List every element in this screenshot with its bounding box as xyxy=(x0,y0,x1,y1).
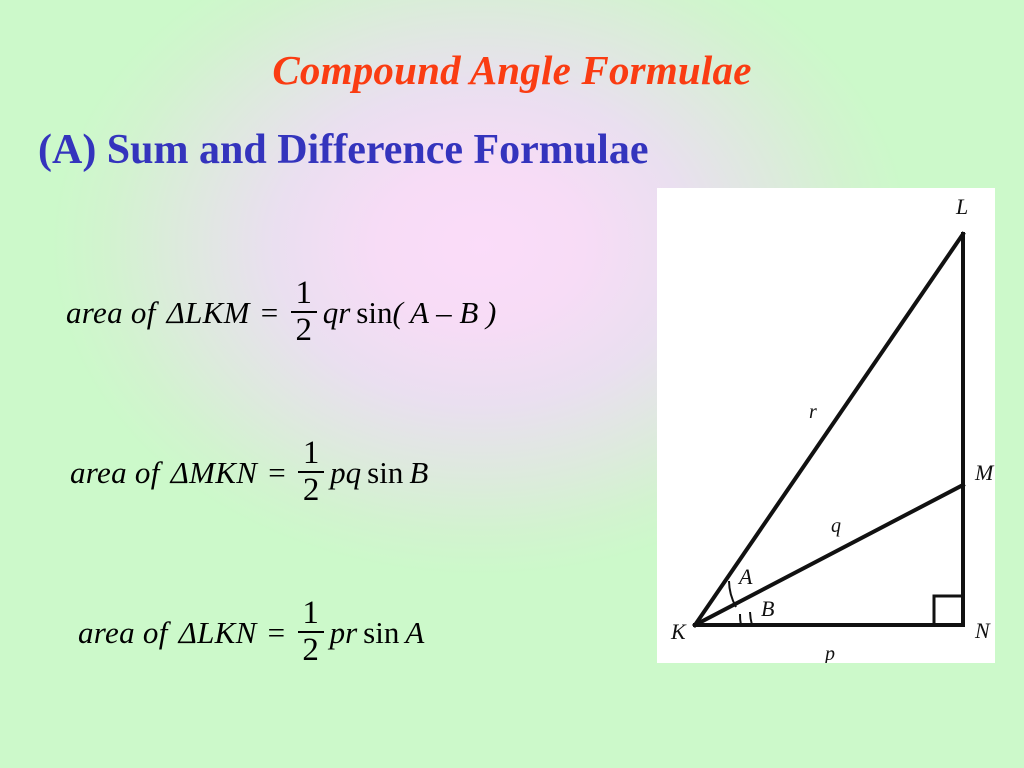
formula-2-argument: B xyxy=(409,455,428,491)
formula-2-numerator: 1 xyxy=(299,437,324,471)
segment-kl xyxy=(695,234,963,625)
formula-3-equals: = xyxy=(266,615,287,651)
formula-1-function: sin xyxy=(356,295,392,331)
side-label-q: q xyxy=(831,515,841,537)
formula-row-3: area of ΔLKN = 1 2 pr sin A xyxy=(78,598,424,668)
formula-1-fraction: 1 2 xyxy=(291,277,317,347)
formula-1-triangle: ΔLKM xyxy=(167,295,250,331)
formula-3-triangle: ΔLKN xyxy=(179,615,257,651)
side-label-p: p xyxy=(823,643,835,663)
section-subtitle: (A) Sum and Difference Formulae xyxy=(38,126,648,174)
triangle-diagram-panel: K L M N p q r A B xyxy=(657,188,995,663)
formula-3-argument: A xyxy=(405,615,424,651)
formula-3-factors: pr xyxy=(330,615,358,651)
angle-label-b: B xyxy=(761,596,774,621)
right-angle-marker xyxy=(934,596,963,625)
vertex-label-n: N xyxy=(974,618,991,643)
formula-2-equals: = xyxy=(266,455,287,491)
slide-canvas: Compound Angle Formulae (A) Sum and Diff… xyxy=(0,0,1024,768)
triangle-diagram-svg: K L M N p q r A B xyxy=(657,188,995,663)
formula-2-denominator: 2 xyxy=(299,473,324,507)
formula-1-argument: ( A – B ) xyxy=(392,295,496,331)
side-label-r: r xyxy=(809,401,817,423)
formula-row-1: area of ΔLKM = 1 2 qr sin ( A – B ) xyxy=(66,278,496,348)
vertex-label-m: M xyxy=(974,460,995,485)
formula-1-denominator: 2 xyxy=(291,313,316,347)
vertex-label-k: K xyxy=(670,619,687,644)
formula-row-2: area of ΔMKN = 1 2 pq sin B xyxy=(70,438,428,508)
formula-2-factors: pq xyxy=(330,455,361,491)
formula-3-numerator: 1 xyxy=(298,597,323,631)
formula-1-equals: = xyxy=(259,295,280,331)
angle-arc-a xyxy=(729,581,736,607)
formula-1-lhs-words: area of xyxy=(66,295,156,331)
formula-2-triangle: ΔMKN xyxy=(171,455,258,491)
formula-3-denominator: 2 xyxy=(298,633,323,667)
formula-1-numerator: 1 xyxy=(291,277,316,311)
formula-1-factors: qr xyxy=(323,295,351,331)
formula-2-function: sin xyxy=(367,455,403,491)
angle-label-a: A xyxy=(737,564,753,589)
formula-3-fraction: 1 2 xyxy=(298,597,324,667)
formula-2-fraction: 1 2 xyxy=(298,437,324,507)
angle-arc-b-inner xyxy=(740,614,741,625)
formula-3-lhs-words: area of xyxy=(78,615,168,651)
vertex-label-l: L xyxy=(955,194,968,219)
formula-2-lhs-words: area of xyxy=(70,455,160,491)
formula-3-function: sin xyxy=(363,615,399,651)
page-title: Compound Angle Formulae xyxy=(0,46,1024,94)
